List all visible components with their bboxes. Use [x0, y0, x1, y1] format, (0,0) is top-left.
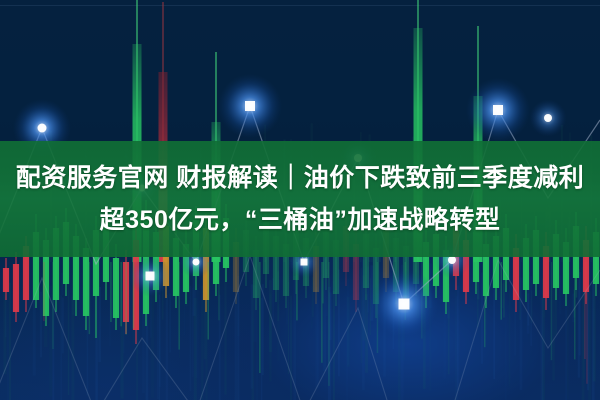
headline-line-1: 配资服务官网 财报解读｜油价下跌致前三季度减利: [16, 157, 584, 199]
news-banner: 配资服务官网 财报解读｜油价下跌致前三季度减利 超350亿元，“三桶油”加速战略…: [0, 0, 600, 400]
headline-line-2: 超350亿元，“三桶油”加速战略转型: [100, 199, 501, 241]
headline-band: 配资服务官网 财报解读｜油价下跌致前三季度减利 超350亿元，“三桶油”加速战略…: [0, 141, 600, 257]
